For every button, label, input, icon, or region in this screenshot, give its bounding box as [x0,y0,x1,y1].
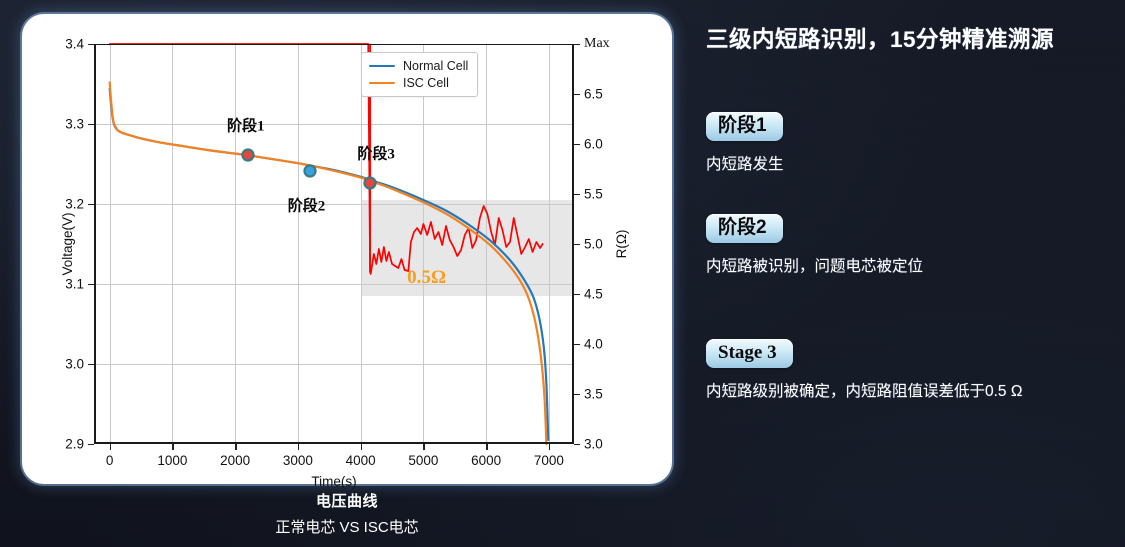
y-axis-tick-label: 3.1 [65,277,84,292]
plot-frame: 阶段1阶段2阶段30.5Ω 2.93.03.13.23.33.4 3.03.54… [94,44,574,444]
bottom-axis-line [94,442,574,444]
axis-tick [574,294,580,295]
stage-marker-label-1: 阶段1 [227,115,265,136]
curves-svg [94,44,574,444]
y-axis-tick-label: 3.2 [65,197,84,212]
axis-tick [110,444,111,450]
resistance-error-label: 0.5Ω [407,267,446,289]
axis-tick [574,444,580,445]
caption-title: 电压曲线 [22,490,672,511]
chart-card: 阶段1阶段2阶段30.5Ω 2.93.03.13.23.33.4 3.03.54… [22,14,672,484]
legend-label-normal-cell: Normal Cell [403,59,468,73]
y2-axis-tick-label: 5.5 [584,187,603,202]
x-axis-tick-label: 4000 [346,453,376,468]
axis-tick [361,444,362,450]
axis-tick [574,194,580,195]
y2-axis-tick-label: 3.0 [584,437,603,452]
axis-tick [574,394,580,395]
stage-block-3: Stage 3 内短路级别被确定，内短路阻值误差低于0.5 Ω [706,339,1106,401]
chart-caption: 电压曲线 正常电芯 VS ISC电芯 [22,490,672,537]
panel-headline: 三级内短路识别，15分钟精准溯源 [706,22,1106,54]
legend-item-normal-cell: Normal Cell [369,59,468,73]
stage-marker-3[interactable] [364,177,377,190]
plot-area: 阶段1阶段2阶段30.5Ω 2.93.03.13.23.33.4 3.03.54… [94,44,574,444]
x-axis-tick-label: 2000 [220,453,250,468]
y2-axis-tick-label: 6.0 [584,137,603,152]
x-axis-tick-label: 3000 [283,453,313,468]
y2-axis-tick-label: 4.5 [584,287,603,302]
axis-tick [423,444,424,450]
y-axis-tick-label: 2.9 [65,437,84,452]
axis-tick [298,444,299,450]
stage-description-2: 内短路被识别，问题电芯被定位 [706,254,1106,276]
axis-tick [88,124,94,125]
stage-badge-1: 阶段1 [706,112,783,141]
stage-badge-2: 阶段2 [706,214,783,243]
stage-marker-label-2: 阶段2 [288,195,326,216]
y2-axis-tick-label: Max [584,36,610,52]
stage-block-2: 阶段2 内短路被识别，问题电芯被定位 [706,214,1106,276]
legend-label-isc-cell: ISC Cell [403,76,449,90]
axis-tick [549,444,550,450]
axis-tick [88,444,94,445]
axis-tick [574,44,580,45]
x-axis-tick-label: 0 [106,453,114,468]
y2-axis-tick-label: 6.5 [584,87,603,102]
y2-axis-tick-label: 3.5 [584,387,603,402]
stage-marker-label-3: 阶段3 [357,143,395,164]
chart-legend: Normal Cell ISC Cell [361,52,478,97]
series-line [110,89,549,440]
y2-axis-tick-label: 5.0 [584,237,603,252]
x-axis-tick-label: 6000 [471,453,501,468]
axis-tick [574,144,580,145]
axis-tick [172,444,173,450]
axis-tick [88,364,94,365]
x-axis-tick-label: 1000 [157,453,187,468]
x-axis-tick-label: 7000 [534,453,564,468]
series-line [110,82,547,444]
axis-tick [486,444,487,450]
x-axis-tick-label: 5000 [408,453,438,468]
axis-tick [88,44,94,45]
legend-swatch-isc-cell [369,82,395,85]
right-panel: 三级内短路识别，15分钟精准溯源 阶段1 内短路发生 阶段2 内短路被识别，问题… [706,22,1106,54]
left-axis-line [94,44,96,444]
axis-tick [88,204,94,205]
stage-description-1: 内短路发生 [706,152,1106,174]
stage-marker-1[interactable] [241,149,254,162]
axis-tick [574,344,580,345]
legend-item-isc-cell: ISC Cell [369,76,468,90]
axis-tick [574,94,580,95]
y-axis-tick-label: 3.4 [65,37,84,52]
stage-badge-3: Stage 3 [706,339,793,368]
axis-tick [88,284,94,285]
stage-marker-2[interactable] [304,165,317,178]
caption-subtitle: 正常电芯 VS ISC电芯 [22,516,672,537]
stage-description-3: 内短路级别被确定，内短路阻值误差低于0.5 Ω [706,379,1106,401]
y-axis-title-right: R(Ω) [614,230,629,259]
stage-block-1: 阶段1 内短路发生 [706,112,1106,174]
legend-swatch-normal-cell [369,65,395,68]
y-axis-title-left: Voltage(V) [60,212,75,275]
axis-tick [574,244,580,245]
y-axis-tick-label: 3.0 [65,357,84,372]
axis-tick [235,444,236,450]
top-axis-line [94,44,574,45]
y-axis-tick-label: 3.3 [65,117,84,132]
y2-axis-tick-label: 4.0 [584,337,603,352]
x-axis-title: Time(s) [311,474,356,489]
